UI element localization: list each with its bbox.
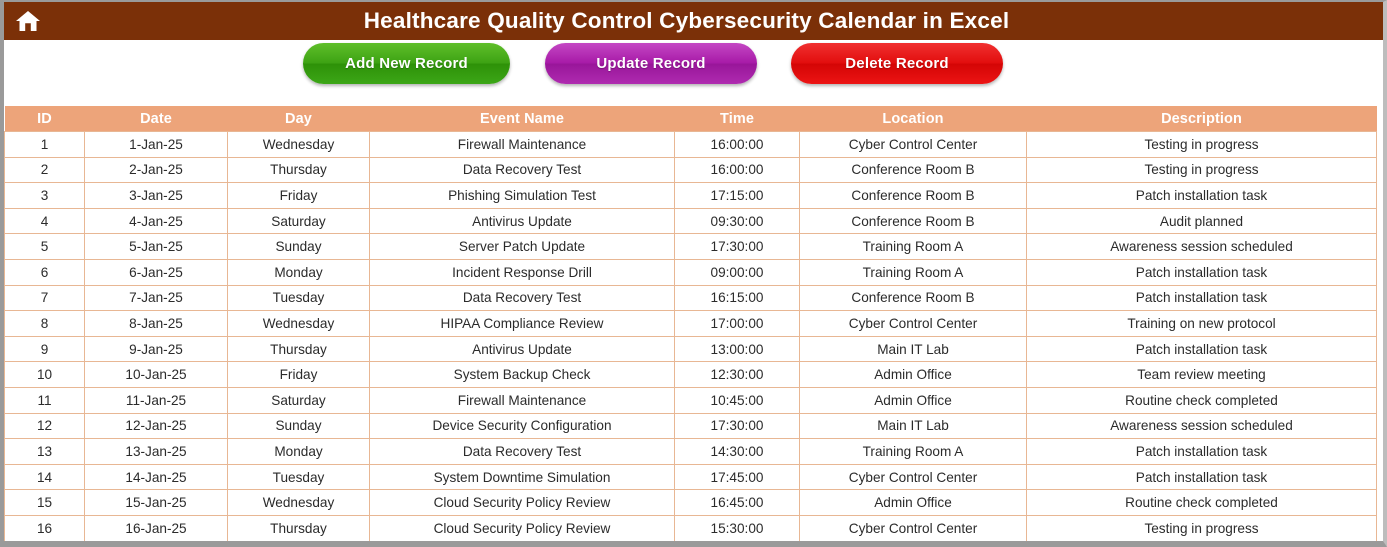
cell-location[interactable]: Training Room A bbox=[800, 439, 1027, 465]
cell-time[interactable]: 09:30:00 bbox=[675, 208, 800, 234]
title-bar: Healthcare Quality Control Cybersecurity… bbox=[4, 2, 1383, 40]
cell-day[interactable]: Friday bbox=[228, 362, 370, 388]
cell-day[interactable]: Sunday bbox=[228, 413, 370, 439]
cell-time[interactable]: 15:30:00 bbox=[675, 515, 800, 541]
cell-id[interactable]: 13 bbox=[5, 439, 85, 465]
table-header-row: ID Date Day Event Name Time Location Des… bbox=[5, 106, 1377, 132]
cell-date[interactable]: 14-Jan-25 bbox=[85, 464, 228, 490]
cell-description[interactable]: Audit planned bbox=[1027, 208, 1377, 234]
cell-time[interactable]: 14:30:00 bbox=[675, 439, 800, 465]
cell-id[interactable]: 12 bbox=[5, 413, 85, 439]
cell-event-name[interactable]: Data Recovery Test bbox=[370, 157, 675, 183]
cell-event-name[interactable]: System Downtime Simulation bbox=[370, 464, 675, 490]
table-row[interactable]: 55-Jan-25SundayServer Patch Update17:30:… bbox=[5, 234, 1377, 260]
cell-date[interactable]: 15-Jan-25 bbox=[85, 490, 228, 516]
cell-day[interactable]: Tuesday bbox=[228, 285, 370, 311]
table-header: ID Date Day Event Name Time Location Des… bbox=[5, 106, 1377, 132]
cell-time[interactable]: 12:30:00 bbox=[675, 362, 800, 388]
action-toolbar: Add New Record Update Record Delete Reco… bbox=[4, 40, 1383, 106]
cell-location[interactable]: Conference Room B bbox=[800, 285, 1027, 311]
table-row[interactable]: 22-Jan-25ThursdayData Recovery Test16:00… bbox=[5, 157, 1377, 183]
cell-day[interactable]: Thursday bbox=[228, 515, 370, 541]
cell-description[interactable]: Patch installation task bbox=[1027, 285, 1377, 311]
delete-record-button[interactable]: Delete Record bbox=[791, 43, 1003, 84]
add-new-record-button[interactable]: Add New Record bbox=[303, 43, 510, 84]
cell-date[interactable]: 13-Jan-25 bbox=[85, 439, 228, 465]
cell-id[interactable]: 14 bbox=[5, 464, 85, 490]
home-icon[interactable] bbox=[4, 2, 52, 40]
update-record-button[interactable]: Update Record bbox=[545, 43, 757, 84]
cell-event-name[interactable]: Antivirus Update bbox=[370, 208, 675, 234]
cell-date[interactable]: 10-Jan-25 bbox=[85, 362, 228, 388]
table-row[interactable]: 88-Jan-25WednesdayHIPAA Compliance Revie… bbox=[5, 311, 1377, 337]
cell-time[interactable]: 17:15:00 bbox=[675, 183, 800, 209]
table-row[interactable]: 1111-Jan-25SaturdayFirewall Maintenance1… bbox=[5, 387, 1377, 413]
table-row[interactable]: 1010-Jan-25FridaySystem Backup Check12:3… bbox=[5, 362, 1377, 388]
table-row[interactable]: 1313-Jan-25MondayData Recovery Test14:30… bbox=[5, 439, 1377, 465]
cell-time[interactable]: 16:45:00 bbox=[675, 490, 800, 516]
table-row[interactable]: 66-Jan-25MondayIncident Response Drill09… bbox=[5, 259, 1377, 285]
cell-event-name[interactable]: Incident Response Drill bbox=[370, 259, 675, 285]
cell-event-name[interactable]: Data Recovery Test bbox=[370, 285, 675, 311]
cell-location[interactable]: Main IT Lab bbox=[800, 413, 1027, 439]
cell-date[interactable]: 1-Jan-25 bbox=[85, 132, 228, 158]
cell-day[interactable]: Sunday bbox=[228, 234, 370, 260]
cell-location[interactable]: Main IT Lab bbox=[800, 336, 1027, 362]
cell-day[interactable]: Wednesday bbox=[228, 132, 370, 158]
table-row[interactable]: 1212-Jan-25SundayDevice Security Configu… bbox=[5, 413, 1377, 439]
cell-time[interactable]: 17:45:00 bbox=[675, 464, 800, 490]
cell-event-name[interactable]: Phishing Simulation Test bbox=[370, 183, 675, 209]
cell-id[interactable]: 16 bbox=[5, 515, 85, 541]
cell-id[interactable]: 4 bbox=[5, 208, 85, 234]
cell-location[interactable]: Cyber Control Center bbox=[800, 464, 1027, 490]
cell-time[interactable]: 17:30:00 bbox=[675, 413, 800, 439]
cell-event-name[interactable]: Cloud Security Policy Review bbox=[370, 490, 675, 516]
cell-date[interactable]: 8-Jan-25 bbox=[85, 311, 228, 337]
cell-id[interactable]: 15 bbox=[5, 490, 85, 516]
cell-description[interactable]: Patch installation task bbox=[1027, 183, 1377, 209]
cell-location[interactable]: Admin Office bbox=[800, 387, 1027, 413]
cell-description[interactable]: Testing in progress bbox=[1027, 157, 1377, 183]
cell-id[interactable]: 10 bbox=[5, 362, 85, 388]
cell-id[interactable]: 7 bbox=[5, 285, 85, 311]
cell-event-name[interactable]: Device Security Configuration bbox=[370, 413, 675, 439]
cell-date[interactable]: 16-Jan-25 bbox=[85, 515, 228, 541]
cell-event-name[interactable]: System Backup Check bbox=[370, 362, 675, 388]
cell-time[interactable]: 10:45:00 bbox=[675, 387, 800, 413]
cell-id[interactable]: 5 bbox=[5, 234, 85, 260]
cell-day[interactable]: Monday bbox=[228, 259, 370, 285]
cell-time[interactable]: 17:00:00 bbox=[675, 311, 800, 337]
cell-date[interactable]: 11-Jan-25 bbox=[85, 387, 228, 413]
cell-description[interactable]: Patch installation task bbox=[1027, 259, 1377, 285]
cell-day[interactable]: Friday bbox=[228, 183, 370, 209]
cell-time[interactable]: 16:00:00 bbox=[675, 132, 800, 158]
table-row[interactable]: 11-Jan-25WednesdayFirewall Maintenance16… bbox=[5, 132, 1377, 158]
cell-date[interactable]: 5-Jan-25 bbox=[85, 234, 228, 260]
cell-id[interactable]: 3 bbox=[5, 183, 85, 209]
column-header-description[interactable]: Description bbox=[1027, 106, 1377, 132]
cell-event-name[interactable]: Firewall Maintenance bbox=[370, 387, 675, 413]
cell-id[interactable]: 2 bbox=[5, 157, 85, 183]
cell-date[interactable]: 9-Jan-25 bbox=[85, 336, 228, 362]
cell-id[interactable]: 6 bbox=[5, 259, 85, 285]
cell-description[interactable]: Training on new protocol bbox=[1027, 311, 1377, 337]
column-header-day[interactable]: Day bbox=[228, 106, 370, 132]
column-header-event-name[interactable]: Event Name bbox=[370, 106, 675, 132]
cell-event-name[interactable]: HIPAA Compliance Review bbox=[370, 311, 675, 337]
cell-location[interactable]: Training Room A bbox=[800, 259, 1027, 285]
cell-description[interactable]: Testing in progress bbox=[1027, 515, 1377, 541]
page-title: Healthcare Quality Control Cybersecurity… bbox=[4, 8, 1369, 34]
cell-time[interactable]: 17:30:00 bbox=[675, 234, 800, 260]
cell-id[interactable]: 9 bbox=[5, 336, 85, 362]
table-row[interactable]: 1616-Jan-25ThursdayCloud Security Policy… bbox=[5, 515, 1377, 541]
cell-time[interactable]: 13:00:00 bbox=[675, 336, 800, 362]
column-header-location[interactable]: Location bbox=[800, 106, 1027, 132]
cell-event-name[interactable]: Server Patch Update bbox=[370, 234, 675, 260]
cell-description[interactable]: Routine check completed bbox=[1027, 387, 1377, 413]
cell-event-name[interactable]: Firewall Maintenance bbox=[370, 132, 675, 158]
cell-description[interactable]: Patch installation task bbox=[1027, 336, 1377, 362]
column-header-id[interactable]: ID bbox=[5, 106, 85, 132]
column-header-date[interactable]: Date bbox=[85, 106, 228, 132]
cell-day[interactable]: Monday bbox=[228, 439, 370, 465]
cell-date[interactable]: 12-Jan-25 bbox=[85, 413, 228, 439]
cell-date[interactable]: 6-Jan-25 bbox=[85, 259, 228, 285]
table-row[interactable]: 1515-Jan-25WednesdayCloud Security Polic… bbox=[5, 490, 1377, 516]
cell-date[interactable]: 2-Jan-25 bbox=[85, 157, 228, 183]
cell-description[interactable]: Team review meeting bbox=[1027, 362, 1377, 388]
cell-location[interactable]: Conference Room B bbox=[800, 183, 1027, 209]
table-row[interactable]: 33-Jan-25FridayPhishing Simulation Test1… bbox=[5, 183, 1377, 209]
cell-description[interactable]: Awareness session scheduled bbox=[1027, 234, 1377, 260]
column-header-time[interactable]: Time bbox=[675, 106, 800, 132]
cell-time[interactable]: 16:15:00 bbox=[675, 285, 800, 311]
cell-description[interactable]: Awareness session scheduled bbox=[1027, 413, 1377, 439]
records-table: ID Date Day Event Name Time Location Des… bbox=[4, 106, 1377, 542]
cell-id[interactable]: 1 bbox=[5, 132, 85, 158]
records-table-wrapper: ID Date Day Event Name Time Location Des… bbox=[4, 106, 1376, 542]
table-row[interactable]: 99-Jan-25ThursdayAntivirus Update13:00:0… bbox=[5, 336, 1377, 362]
cell-id[interactable]: 8 bbox=[5, 311, 85, 337]
cell-day[interactable]: Thursday bbox=[228, 336, 370, 362]
cell-description[interactable]: Testing in progress bbox=[1027, 132, 1377, 158]
cell-description[interactable]: Patch installation task bbox=[1027, 464, 1377, 490]
cell-date[interactable]: 4-Jan-25 bbox=[85, 208, 228, 234]
cell-location[interactable]: Cyber Control Center bbox=[800, 311, 1027, 337]
cell-day[interactable]: Tuesday bbox=[228, 464, 370, 490]
cell-id[interactable]: 11 bbox=[5, 387, 85, 413]
cell-location[interactable]: Training Room A bbox=[800, 234, 1027, 260]
cell-location[interactable]: Cyber Control Center bbox=[800, 132, 1027, 158]
cell-location[interactable]: Conference Room B bbox=[800, 157, 1027, 183]
cell-time[interactable]: 16:00:00 bbox=[675, 157, 800, 183]
cell-day[interactable]: Wednesday bbox=[228, 311, 370, 337]
cell-date[interactable]: 7-Jan-25 bbox=[85, 285, 228, 311]
cell-event-name[interactable]: Antivirus Update bbox=[370, 336, 675, 362]
cell-date[interactable]: 3-Jan-25 bbox=[85, 183, 228, 209]
cell-day[interactable]: Saturday bbox=[228, 208, 370, 234]
cell-description[interactable]: Routine check completed bbox=[1027, 490, 1377, 516]
cell-location[interactable]: Conference Room B bbox=[800, 208, 1027, 234]
table-row[interactable]: 77-Jan-25TuesdayData Recovery Test16:15:… bbox=[5, 285, 1377, 311]
table-body: 11-Jan-25WednesdayFirewall Maintenance16… bbox=[5, 132, 1377, 542]
cell-event-name[interactable]: Data Recovery Test bbox=[370, 439, 675, 465]
cell-location[interactable]: Cyber Control Center bbox=[800, 515, 1027, 541]
cell-day[interactable]: Thursday bbox=[228, 157, 370, 183]
cell-event-name[interactable]: Cloud Security Policy Review bbox=[370, 515, 675, 541]
cell-day[interactable]: Saturday bbox=[228, 387, 370, 413]
table-row[interactable]: 44-Jan-25SaturdayAntivirus Update09:30:0… bbox=[5, 208, 1377, 234]
cell-location[interactable]: Admin Office bbox=[800, 362, 1027, 388]
cell-day[interactable]: Wednesday bbox=[228, 490, 370, 516]
cell-time[interactable]: 09:00:00 bbox=[675, 259, 800, 285]
app-window: Healthcare Quality Control Cybersecurity… bbox=[0, 0, 1387, 547]
cell-location[interactable]: Admin Office bbox=[800, 490, 1027, 516]
table-row[interactable]: 1414-Jan-25TuesdaySystem Downtime Simula… bbox=[5, 464, 1377, 490]
cell-description[interactable]: Patch installation task bbox=[1027, 439, 1377, 465]
